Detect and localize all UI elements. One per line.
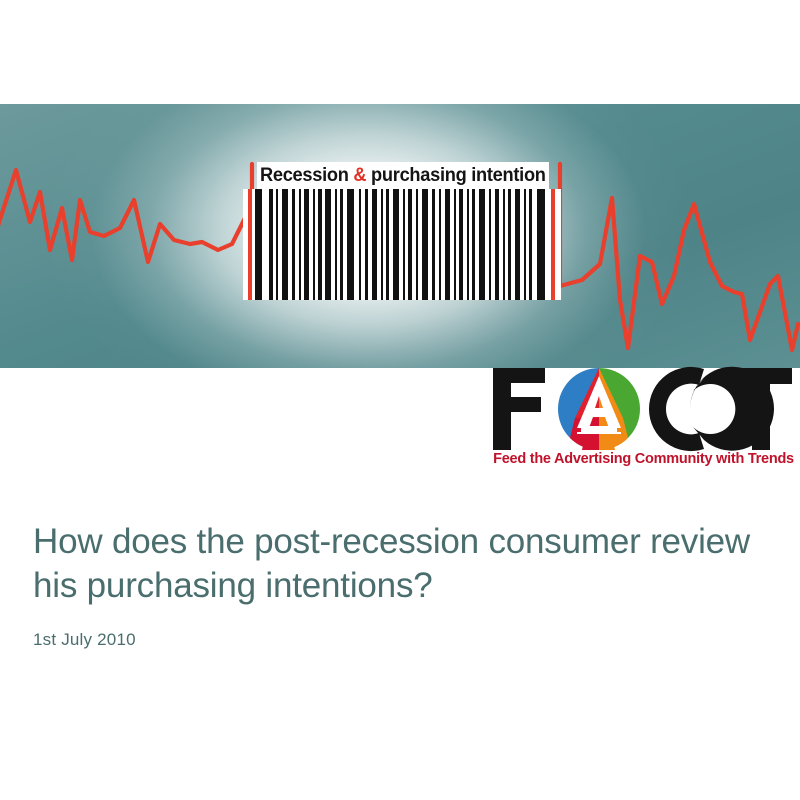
- barcode-bars: [243, 189, 561, 300]
- line-segment-right: [560, 164, 798, 350]
- page-date: 1st July 2010: [33, 630, 136, 650]
- barcode-label: Recession & purchasing intention: [257, 162, 549, 189]
- fact-letter-f-shape: [493, 368, 545, 450]
- page-title: How does the post-recession consumer rev…: [33, 520, 763, 608]
- line-segment-left: [0, 164, 252, 272]
- fact-logo-tagline: Feed the Advertising Community with Tren…: [492, 451, 795, 467]
- recession-banner: Recession & purchasing intention: [0, 104, 800, 368]
- barcode-label-suffix: purchasing intention: [366, 165, 545, 186]
- barcode-graphic: Recession & purchasing intention: [243, 162, 561, 300]
- barcode-label-ampersand: &: [354, 165, 367, 186]
- barcode-label-text: Recession & purchasing intention: [260, 165, 546, 187]
- barcode-label-prefix: Recession: [260, 165, 353, 186]
- title-block: How does the post-recession consumer rev…: [33, 520, 763, 608]
- fact-logo-marks: [489, 366, 795, 452]
- fact-logo: Feed the Advertising Community with Tren…: [489, 366, 795, 476]
- fact-letter-a-wheel: [558, 368, 640, 450]
